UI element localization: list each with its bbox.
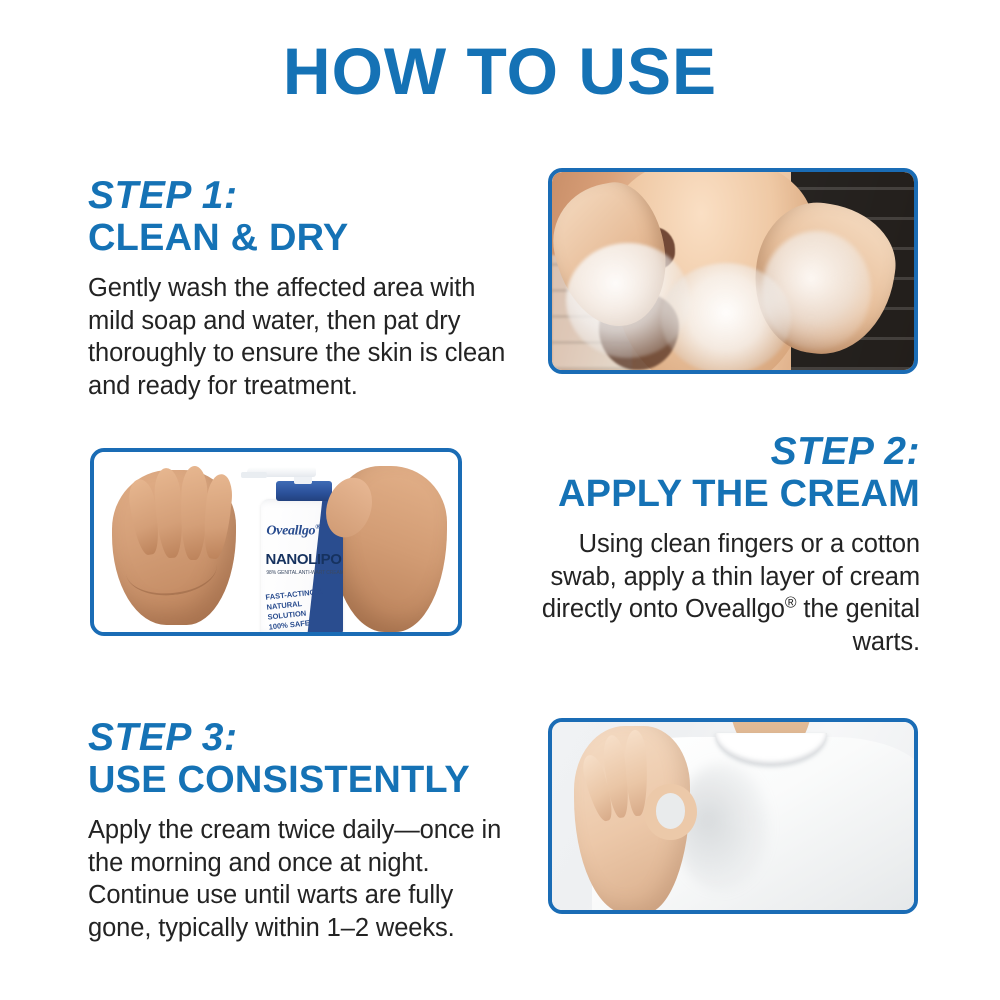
step-2-label: STEP 2:	[520, 432, 920, 473]
step-3-photo-image	[552, 722, 914, 910]
step-1-label: STEP 1:	[88, 176, 518, 217]
step-2-brand-name: Oveallgo	[685, 595, 785, 623]
step-3-label: STEP 3:	[88, 718, 518, 759]
step-2-heading: APPLY THE CREAM	[520, 473, 920, 516]
step-1-body: Gently wash the affected area with mild …	[88, 272, 518, 402]
step-3-text-block: STEP 3: USE CONSISTENTLY Apply the cream…	[88, 718, 518, 944]
step-3-heading: USE CONSISTENTLY	[88, 759, 518, 802]
bottle-subtitle: 98% GENITAL ANTI-WART CREAM	[266, 570, 338, 576]
step-3-photo	[548, 718, 918, 914]
step-2-text-block: STEP 2: APPLY THE CREAM Using clean fing…	[520, 432, 920, 658]
step-2-photo-image: Oveallgo® NANOLIPO 98% GENITAL ANTI-WART…	[94, 452, 458, 632]
bottle-brand-text: Oveallgo	[266, 524, 315, 539]
bottle-tagline: FAST-ACTING & NATURAL SOLUTION 100% SAFE	[265, 586, 339, 632]
ok-loop-opening	[656, 793, 686, 829]
registered-trademark-icon: ®	[785, 595, 797, 612]
step-3-body: Apply the cream twice daily—once in the …	[88, 814, 518, 944]
bottle-pump-nozzle	[241, 472, 266, 478]
bottle-registered-icon: ®	[315, 522, 320, 531]
step-2-body: Using clean fingers or a cotton swab, ap…	[520, 528, 920, 658]
soap-lather-right	[762, 231, 871, 350]
bottle-product-name: NANOLIPO	[266, 551, 341, 568]
step-1-heading: CLEAN & DRY	[88, 217, 518, 260]
step-2-photo: Oveallgo® NANOLIPO 98% GENITAL ANTI-WART…	[90, 448, 462, 636]
page-title: HOW TO USE	[0, 38, 1000, 104]
step-2-body-part-2: the genital warts.	[796, 595, 920, 655]
step-1-photo-image	[552, 172, 914, 370]
step-1-text-block: STEP 1: CLEAN & DRY Gently wash the affe…	[88, 176, 518, 402]
step-1-photo	[548, 168, 918, 374]
